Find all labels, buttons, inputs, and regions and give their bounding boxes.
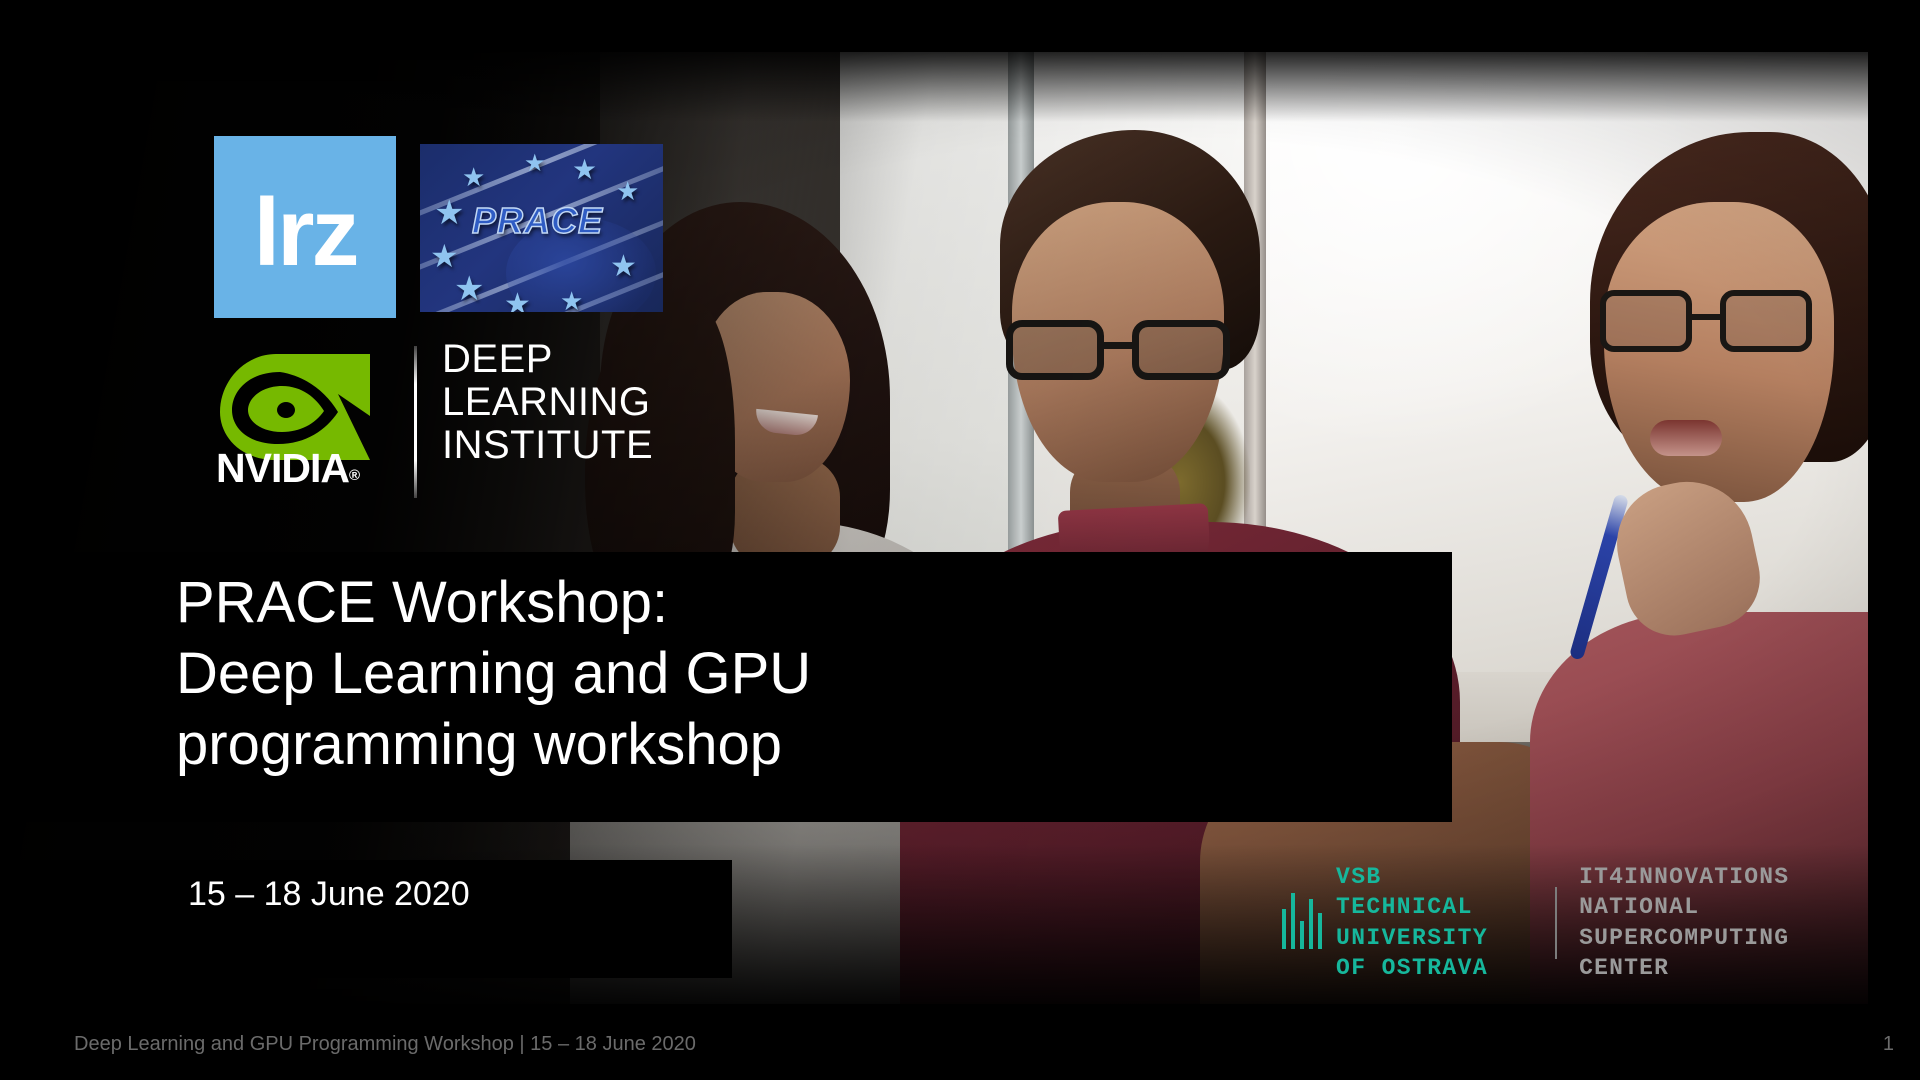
it4i-wordmark: IT4INNOVATIONS NATIONAL SUPERCOMPUTING C… xyxy=(1579,862,1920,983)
vsb-it4i-divider xyxy=(1555,887,1557,959)
nvidia-wordmark-text: NVIDIA xyxy=(216,445,349,491)
dli-line-1: DEEP xyxy=(442,338,653,381)
it4i-line-2: NATIONAL SUPERCOMPUTING xyxy=(1579,892,1920,953)
nvidia-eye-icon xyxy=(220,354,358,452)
title-slide: lrz ★ ★ ★ ★ ★ ★ ★ ★ ★ ★ PRACE xyxy=(0,0,1920,1080)
photo-top-fade xyxy=(0,52,1868,122)
lrz-logo-text: lrz xyxy=(253,185,356,281)
vsb-wordmark: VSB TECHNICAL UNIVERSITY OF OSTRAVA xyxy=(1336,862,1531,983)
vsb-line-2: UNIVERSITY xyxy=(1336,923,1531,953)
nvidia-trademark: ® xyxy=(349,467,359,484)
title-line-1: PRACE Workshop: xyxy=(176,568,1276,639)
event-date: 15 – 18 June 2020 xyxy=(188,875,470,914)
it4i-line-3: CENTER xyxy=(1579,953,1920,983)
vsb-line-3: OF OSTRAVA xyxy=(1336,953,1531,983)
page-number: 1 xyxy=(1883,1033,1894,1056)
dli-line-2: LEARNING xyxy=(442,381,653,424)
title-line-3: programming workshop xyxy=(176,710,1276,781)
vsb-it4i-logo: VSB TECHNICAL UNIVERSITY OF OSTRAVA IT4I… xyxy=(1282,862,1920,983)
prace-logo: ★ ★ ★ ★ ★ ★ ★ ★ ★ ★ PRACE xyxy=(420,144,663,312)
nvidia-dli-logo: NVIDIA® DEEP LEARNING INSTITUTE xyxy=(214,348,666,488)
page-title: PRACE Workshop: Deep Learning and GPU pr… xyxy=(176,568,1276,780)
it4i-line-1: IT4INNOVATIONS xyxy=(1579,862,1920,892)
lrz-logo: lrz xyxy=(214,136,396,318)
vsb-bars-icon xyxy=(1282,895,1322,951)
dli-wordmark: DEEP LEARNING INSTITUTE xyxy=(442,338,653,468)
vsb-line-1: VSB TECHNICAL xyxy=(1336,862,1531,923)
footer-text: Deep Learning and GPU Programming Worksh… xyxy=(74,1033,696,1056)
nvidia-divider xyxy=(414,346,417,498)
dli-line-3: INSTITUTE xyxy=(442,424,653,467)
nvidia-wordmark: NVIDIA® xyxy=(216,448,359,489)
prace-logo-text: PRACE xyxy=(472,200,603,242)
title-line-2: Deep Learning and GPU xyxy=(176,639,1276,710)
